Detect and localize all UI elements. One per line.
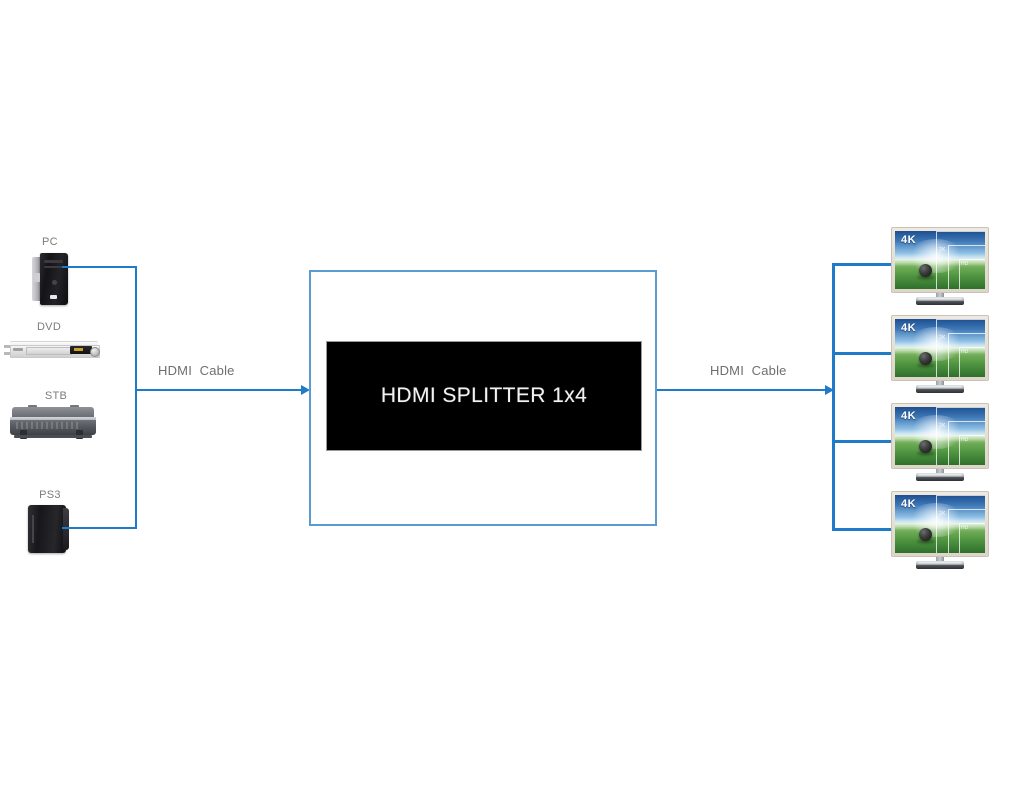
tv-screen: 2K HD 4K [895, 407, 985, 465]
desktop-tower-icon [32, 253, 72, 305]
tv-screen: 2K HD 4K [895, 495, 985, 553]
display-tv-4[interactable]: 2K HD 4K [891, 491, 989, 571]
tv-screen: 2K HD 4K [895, 231, 985, 289]
tv-4k-badge: 4K [901, 234, 916, 246]
wire-bus-to-tv3 [832, 440, 900, 443]
device-label-dvd: DVD [14, 321, 84, 333]
device-label-stb: STB [26, 390, 86, 402]
display-tv-1[interactable]: 2K HD 4K [891, 227, 989, 307]
dvd-player-icon [4, 339, 104, 361]
tv-4k-badge: 4K [901, 410, 916, 422]
diagram-canvas: PC DVD STB PS3 [0, 0, 1024, 800]
set-top-box-icon [8, 405, 98, 441]
display-tv-2[interactable]: 2K HD 4K [891, 315, 989, 395]
game-console-icon [28, 505, 72, 553]
tv-4k-badge: 4K [901, 322, 916, 334]
tv-screen: 2K HD 4K [895, 319, 985, 377]
output-bus-line [832, 263, 835, 529]
tv-4k-badge: 4K [901, 498, 916, 510]
wire-splitter-to-bus [657, 389, 829, 391]
hdmi-splitter-unit[interactable]: HDMI SPLITTER 1x4 [326, 341, 642, 451]
input-bus-line [135, 266, 137, 529]
splitter-unit-label: HDMI SPLITTER 1x4 [381, 384, 587, 408]
wire-bus-to-tv1 [832, 263, 900, 266]
wire-bus-to-tv2 [832, 352, 900, 355]
cable-label-output: HDMI Cable [710, 363, 787, 378]
wire-bus-to-tv4 [832, 528, 900, 531]
wire-bus-to-splitter [135, 389, 305, 391]
device-label-pc: PC [24, 236, 76, 248]
device-label-ps3: PS3 [24, 489, 76, 501]
wire-ps3-to-bus [62, 527, 137, 529]
display-tv-3[interactable]: 2K HD 4K [891, 403, 989, 483]
cable-label-input: HDMI Cable [158, 363, 235, 378]
wire-pc-to-bus [62, 266, 137, 268]
